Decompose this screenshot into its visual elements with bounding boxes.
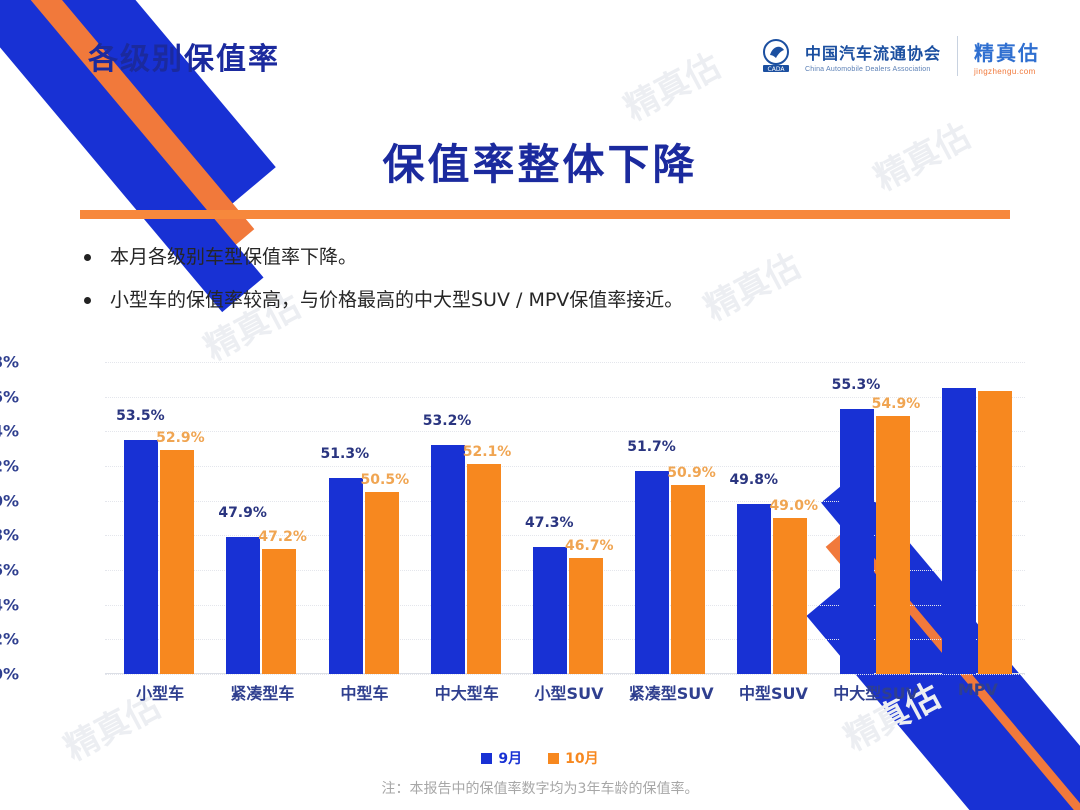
bar-9月-中大型SUV xyxy=(840,409,874,674)
bar-9月-小型SUV xyxy=(533,547,567,674)
bar-10月-中大型SUV xyxy=(876,416,910,674)
bullet-list: 本月各级别车型保值率下降。小型车的保值率较高，与价格最高的中大型SUV / MP… xyxy=(84,243,1024,328)
y-axis-tick-label: 56% xyxy=(0,387,19,406)
chart: 58%56%54%52%50%48%46%44%42%40%53.5%52.9%… xyxy=(0,352,1080,692)
legend-color-swatch xyxy=(481,753,492,764)
svg-text:CADA: CADA xyxy=(768,66,786,73)
bullet-item: 本月各级别车型保值率下降。 xyxy=(84,243,1024,272)
bar-9月-MPV xyxy=(942,388,976,674)
y-axis-tick-label: 58% xyxy=(0,353,19,372)
bar-9月-紧凑型车 xyxy=(226,537,260,674)
y-axis-tick-label: 40% xyxy=(0,665,19,684)
footer-note: 注：本报告中的保值率数字均为3年车龄的保值率。 xyxy=(0,778,1080,798)
bar-10月-紧凑型SUV xyxy=(671,485,705,674)
bar-9月-紧凑型SUV xyxy=(635,471,669,674)
legend-label: 10月 xyxy=(565,748,598,768)
legend-item-9月[interactable]: 9月 xyxy=(481,748,522,768)
bullet-text: 小型车的保值率较高，与价格最高的中大型SUV / MPV保值率接近。 xyxy=(110,286,683,315)
jingzhengu-url: jingzhengu.com xyxy=(974,67,1040,76)
y-axis-tick-label: 52% xyxy=(0,457,19,476)
orange-divider xyxy=(80,210,1010,219)
bullet-dot-icon xyxy=(84,254,91,261)
logo-block: CADA 中国汽车流通协会 China Automobile Dealers A… xyxy=(761,36,1040,76)
bar-10月-中大型车 xyxy=(467,464,501,674)
bar-10月-小型SUV xyxy=(569,558,603,674)
bar-value-label: 49.8% xyxy=(729,472,778,488)
bar-10月-MPV xyxy=(978,391,1012,674)
legend-color-swatch xyxy=(548,753,559,764)
bar-value-label: 53.5% xyxy=(116,408,165,424)
cada-name-en: China Automobile Dealers Association xyxy=(805,66,941,73)
bar-value-label: 47.3% xyxy=(525,515,574,531)
bar-value-label: 55.3% xyxy=(832,377,881,393)
y-axis-tick-label: 54% xyxy=(0,422,19,441)
logo-divider xyxy=(957,36,958,76)
bullet-item: 小型车的保值率较高，与价格最高的中大型SUV / MPV保值率接近。 xyxy=(84,286,1024,315)
jingzhengu-name-cn: 精真估 xyxy=(974,37,1040,66)
chart-legend: 9月10月 xyxy=(0,748,1080,768)
bar-10月-中型车 xyxy=(365,492,399,674)
bar-value-label: 50.9% xyxy=(667,465,716,481)
bar-10月-小型车 xyxy=(160,450,194,674)
bar-value-label: 54.9% xyxy=(872,396,921,412)
y-axis-tick-label: 50% xyxy=(0,491,19,510)
legend-label: 9月 xyxy=(498,748,522,768)
page-title: 各级别保值率 xyxy=(88,34,280,78)
chart-plot-area: 58%56%54%52%50%48%46%44%42%40%53.5%52.9%… xyxy=(105,362,1025,674)
bar-value-label: 52.1% xyxy=(463,444,512,460)
x-axis-tick-label: MPV xyxy=(918,680,1038,699)
y-axis-tick-label: 44% xyxy=(0,595,19,614)
bar-value-label: 51.3% xyxy=(321,446,370,462)
y-axis-tick-label: 46% xyxy=(0,561,19,580)
bar-value-label: 50.5% xyxy=(361,472,410,488)
bullet-dot-icon xyxy=(84,297,91,304)
cada-name-cn: 中国汽车流通协会 xyxy=(805,40,941,64)
y-axis-tick-label: 48% xyxy=(0,526,19,545)
header: 各级别保值率 xyxy=(88,34,280,78)
bar-value-label: 53.2% xyxy=(423,413,472,429)
bar-value-label: 47.9% xyxy=(218,505,267,521)
bullet-text: 本月各级别车型保值率下降。 xyxy=(110,243,357,272)
cada-logo: CADA 中国汽车流通协会 China Automobile Dealers A… xyxy=(761,39,941,73)
cada-swan-logo-icon: CADA xyxy=(761,39,797,73)
bar-10月-紧凑型车 xyxy=(262,549,296,674)
bar-value-label: 49.0% xyxy=(769,498,818,514)
watermark-text: 精真估 xyxy=(614,39,727,130)
bar-value-label: 47.2% xyxy=(258,529,307,545)
bar-9月-中型车 xyxy=(329,478,363,674)
y-axis-tick-label: 42% xyxy=(0,630,19,649)
bar-value-label: 52.9% xyxy=(156,430,205,446)
chart-gridline xyxy=(105,674,1025,675)
main-title: 保值率整体下降 xyxy=(0,131,1080,192)
jingzhengu-logo: 精真估 jingzhengu.com xyxy=(974,37,1040,76)
chart-gridline xyxy=(105,362,1025,363)
bar-10月-中型SUV xyxy=(773,518,807,674)
legend-item-10月[interactable]: 10月 xyxy=(548,748,598,768)
bar-9月-中大型车 xyxy=(431,445,465,674)
bar-9月-小型车 xyxy=(124,440,158,674)
bar-value-label: 51.7% xyxy=(627,439,676,455)
bar-9月-中型SUV xyxy=(737,504,771,674)
bar-value-label: 46.7% xyxy=(565,538,614,554)
